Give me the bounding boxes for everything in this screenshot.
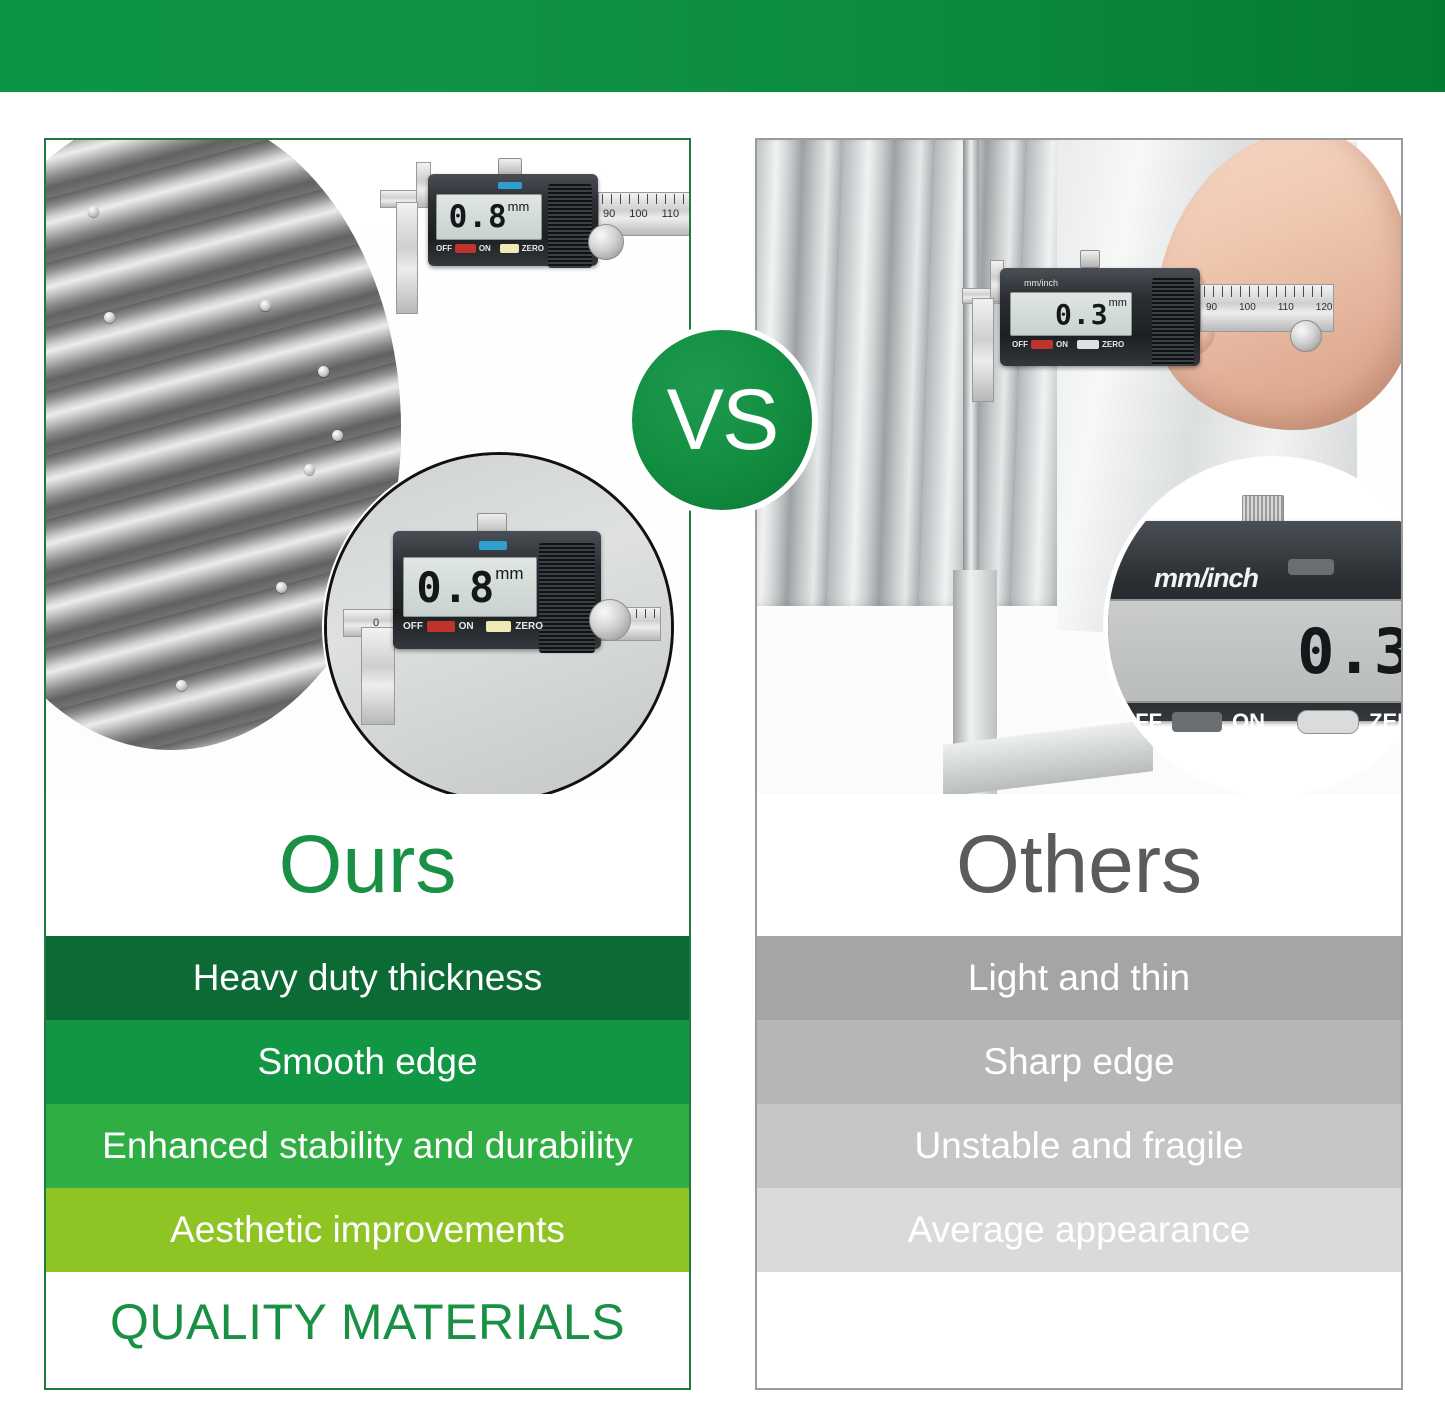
caliper-mode-label: mm/inch <box>1024 278 1058 288</box>
caliper-thumb-wheel <box>588 224 624 260</box>
scale-number: 100 <box>629 208 647 220</box>
vs-label: VS <box>667 377 778 463</box>
caliper-grip <box>1152 278 1194 366</box>
caliper-grip <box>548 184 592 268</box>
caliper-mode-label: mm/inch <box>1154 563 1258 594</box>
caliper-thumb-wheel <box>1290 320 1322 352</box>
scale-number: 110 <box>1278 302 1294 313</box>
caliper-zero-switch[interactable] <box>486 621 512 632</box>
caliper-jaw-lower <box>972 298 994 402</box>
others-feature-label: Light and thin <box>968 957 1190 999</box>
ours-feature-label: Aesthetic improvements <box>170 1209 565 1251</box>
others-feature-row-1: Light and thin <box>757 936 1401 1020</box>
caliper-display: 0.3 mm <box>1010 292 1132 336</box>
caliper-off-label: OFF <box>1118 709 1162 735</box>
others-feature-label: Unstable and fragile <box>914 1125 1243 1167</box>
ours-magnified-inset: 0 90 0.8 mm OFF <box>324 452 674 794</box>
top-green-banner <box>0 0 1445 92</box>
ours-product-photo: 0 90 100 110 0.8 mm OFF <box>46 140 689 794</box>
caliper-value: 0.3 <box>1297 615 1401 688</box>
caliper-zero-label: ZERO <box>515 621 543 632</box>
digital-caliper-magnified: mm/inch 0.3 mm OFF ON ZERO <box>1105 495 1401 745</box>
caliper-thumb-screw <box>1080 250 1100 268</box>
caliper-blue-button <box>498 182 522 189</box>
others-footer <box>757 1272 1401 1372</box>
ours-title-block: Ours <box>46 794 689 936</box>
caliper-button-row: OFF ON ZERO <box>1012 340 1132 349</box>
caliper-unit: mm <box>1109 297 1127 309</box>
digital-caliper-small: 90 100 110 120 mm/inch 0.3 mm OFF ON <box>962 260 1332 400</box>
others-feature-label: Sharp edge <box>983 1041 1174 1083</box>
ours-feature-row-4: Aesthetic improvements <box>46 1188 689 1272</box>
rivet-icon <box>304 464 315 475</box>
others-feature-rows: Light and thin Sharp edge Unstable and f… <box>757 936 1401 1272</box>
caliper-on-label: ON <box>459 621 474 632</box>
rivet-icon <box>276 582 287 593</box>
caliper-tick-marks <box>602 194 686 204</box>
caliper-jaw-lower <box>396 202 418 314</box>
others-product-photo: 90 100 110 120 mm/inch 0.3 mm OFF ON <box>757 140 1401 794</box>
caliper-power-switch[interactable] <box>1031 340 1053 349</box>
rivet-icon <box>318 366 329 377</box>
caliper-display: 0.3 mm <box>1105 599 1401 703</box>
caliper-scale-numbers: 90 100 110 <box>603 208 679 220</box>
caliper-power-switch[interactable] <box>1172 712 1222 732</box>
caliper-on-label: ON <box>1056 340 1068 349</box>
caliper-on-label: ON <box>479 244 491 253</box>
others-panel: 90 100 110 120 mm/inch 0.3 mm OFF ON <box>755 138 1403 1390</box>
others-feature-label: Average appearance <box>908 1209 1251 1251</box>
rivet-icon <box>332 430 343 441</box>
caliper-zero-switch[interactable] <box>1077 340 1099 349</box>
rivet-icon <box>88 206 99 217</box>
caliper-display: 0.8 mm <box>403 557 537 617</box>
scale-number: 120 <box>1316 302 1333 313</box>
caliper-blue-button <box>479 541 507 550</box>
comparison-stage: 0 90 100 110 0.8 mm OFF <box>0 92 1445 1401</box>
caliper-value: 0.3 <box>1055 298 1109 331</box>
caliper-button-row: OFF ON ZERO <box>403 621 543 632</box>
rivet-icon <box>104 312 115 323</box>
ours-feature-label: Smooth edge <box>257 1041 477 1083</box>
caliper-jaw-lower <box>361 627 395 725</box>
caliper-value: 0.8 <box>416 563 495 612</box>
ours-feature-row-2: Smooth edge <box>46 1020 689 1104</box>
caliper-off-label: OFF <box>1012 340 1028 349</box>
caliper-thumb-wheel <box>589 599 631 641</box>
rivet-icon <box>176 680 187 691</box>
rivet-icon <box>260 300 271 311</box>
caliper-zero-switch[interactable] <box>1297 710 1359 734</box>
ours-feature-label: Enhanced stability and durability <box>102 1125 633 1167</box>
caliper-power-switch[interactable] <box>427 621 455 632</box>
scale-number: 110 <box>662 208 680 220</box>
scale-number: 100 <box>1239 302 1256 313</box>
vs-badge: VS <box>632 330 812 510</box>
others-magnified-inset: mm/inch 0.3 mm OFF ON ZERO <box>1105 458 1401 794</box>
caliper-zero-switch[interactable] <box>500 244 519 253</box>
quality-materials-label: QUALITY MATERIALS <box>110 1293 625 1351</box>
scale-number: 90 <box>603 208 615 220</box>
caliper-zero-label: ZERO <box>1102 340 1124 349</box>
ours-feature-rows: Heavy duty thickness Smooth edge Enhance… <box>46 936 689 1272</box>
caliper-button-row: OFF ON ZERO <box>436 244 544 253</box>
caliper-zero-label: ZERO <box>1369 709 1401 735</box>
ours-feature-label: Heavy duty thickness <box>193 957 543 999</box>
caliper-tick-marks <box>1204 286 1328 297</box>
others-title-block: Others <box>757 794 1401 936</box>
ours-feature-row-3: Enhanced stability and durability <box>46 1104 689 1188</box>
caliper-zero-label: ZERO <box>522 244 544 253</box>
page-title-ours: Ours <box>279 824 457 906</box>
scale-number: 90 <box>1206 302 1217 313</box>
caliper-origin-label: 0 <box>373 617 379 629</box>
caliper-value: 0.8 <box>449 199 508 235</box>
digital-caliper-small: 0 90 100 110 0.8 mm OFF <box>376 162 688 312</box>
caliper-mode-button[interactable] <box>1288 559 1334 575</box>
caliper-off-label: OFF <box>403 621 423 632</box>
caliper-grip <box>539 543 595 653</box>
others-feature-row-2: Sharp edge <box>757 1020 1401 1104</box>
caliper-scale-numbers: 90 100 110 120 <box>1206 302 1332 313</box>
caliper-off-label: OFF <box>436 244 452 253</box>
caliper-power-switch[interactable] <box>455 244 476 253</box>
page-title-others: Others <box>956 824 1202 906</box>
caliper-unit: mm <box>495 564 523 584</box>
ours-footer: QUALITY MATERIALS <box>46 1272 689 1372</box>
caliper-on-label: ON <box>1232 709 1265 735</box>
caliper-button-row: OFF ON ZERO <box>1118 709 1401 735</box>
others-feature-row-3: Unstable and fragile <box>757 1104 1401 1188</box>
caliper-display: 0.8 mm <box>436 194 542 240</box>
ours-feature-row-1: Heavy duty thickness <box>46 936 689 1020</box>
ours-panel: 0 90 100 110 0.8 mm OFF <box>44 138 691 1390</box>
digital-caliper-magnified: 0 90 0.8 mm OFF <box>343 513 659 723</box>
caliper-unit: mm <box>508 199 530 214</box>
others-feature-row-4: Average appearance <box>757 1188 1401 1272</box>
